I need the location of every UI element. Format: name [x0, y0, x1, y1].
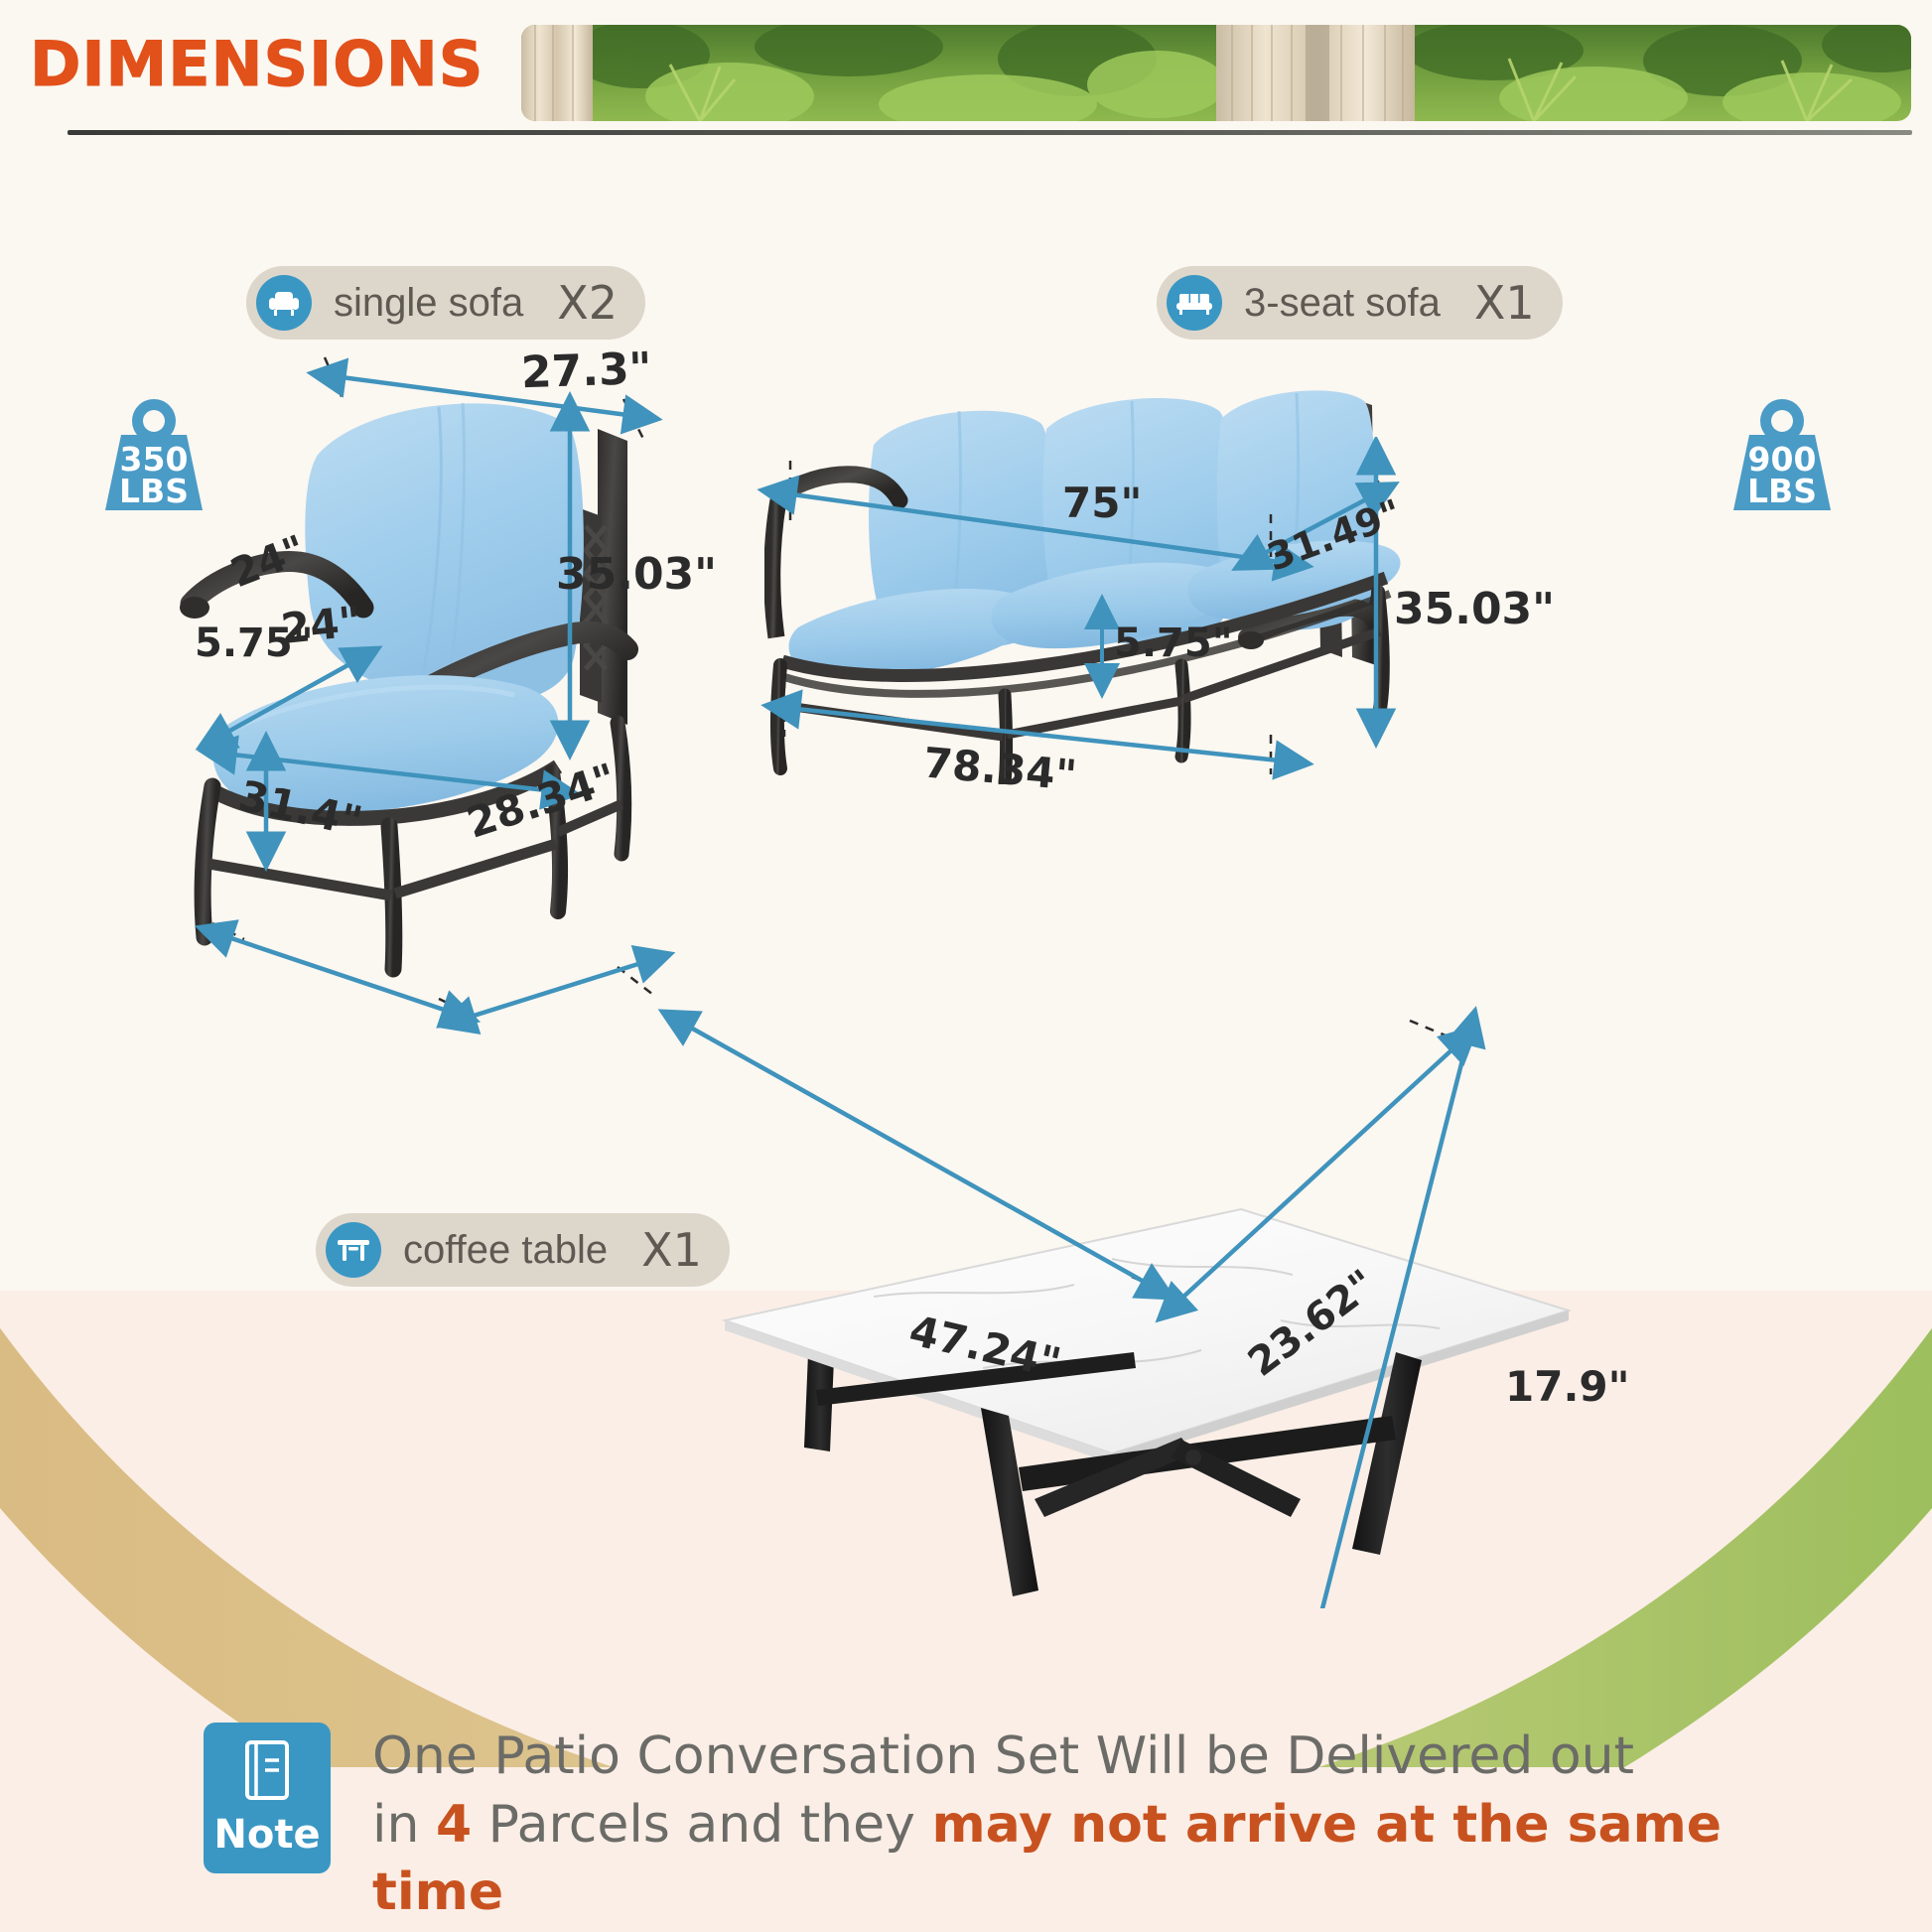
header-banner-image — [521, 25, 1911, 121]
armchair-icon — [256, 275, 312, 331]
legend-label: coffee table — [403, 1228, 608, 1273]
dim-single-overall-height: 35.03" — [556, 549, 717, 600]
header: DIMENSIONS — [0, 0, 1932, 174]
note-line1: One Patio Conversation Set Will be Deliv… — [372, 1726, 1634, 1786]
sofa-icon — [1167, 275, 1222, 331]
coffee-table-dimension-lines — [655, 983, 1767, 1608]
table-icon — [326, 1222, 381, 1278]
legend-label: single sofa — [334, 281, 523, 326]
note-badge: Note — [204, 1723, 331, 1873]
header-divider — [68, 130, 1912, 135]
legend-quantity: X1 — [1474, 276, 1535, 330]
dim-sofa-overall-height: 35.03" — [1394, 584, 1555, 634]
note-bar: Note One Patio Conversation Set Will be … — [204, 1723, 1842, 1927]
note-line2-mid: Parcels and they — [472, 1795, 931, 1855]
note-badge-word: Note — [213, 1812, 320, 1858]
dim-table-height: 17.9" — [1505, 1362, 1630, 1411]
dim-sofa-cushion-height: 5.75" — [1114, 621, 1233, 666]
legend-quantity: X2 — [557, 276, 618, 330]
note-message: One Patio Conversation Set Will be Deliv… — [372, 1723, 1842, 1927]
legend-pill-three-seat-sofa: 3-seat sofa X1 — [1157, 266, 1563, 340]
dim-sofa-seat-span: 75" — [1062, 479, 1142, 527]
dim-single-cushion-height: 5.75" — [195, 621, 314, 666]
note-parcel-count: 4 — [436, 1795, 472, 1855]
single-sofa-dimension-lines — [149, 328, 844, 1042]
dim-single-back-width: 27.3" — [520, 344, 652, 399]
legend-label: 3-seat sofa — [1244, 281, 1441, 326]
note-book-icon — [238, 1738, 296, 1808]
note-line2-prefix: in — [372, 1795, 436, 1855]
page-title: DIMENSIONS — [30, 28, 483, 100]
